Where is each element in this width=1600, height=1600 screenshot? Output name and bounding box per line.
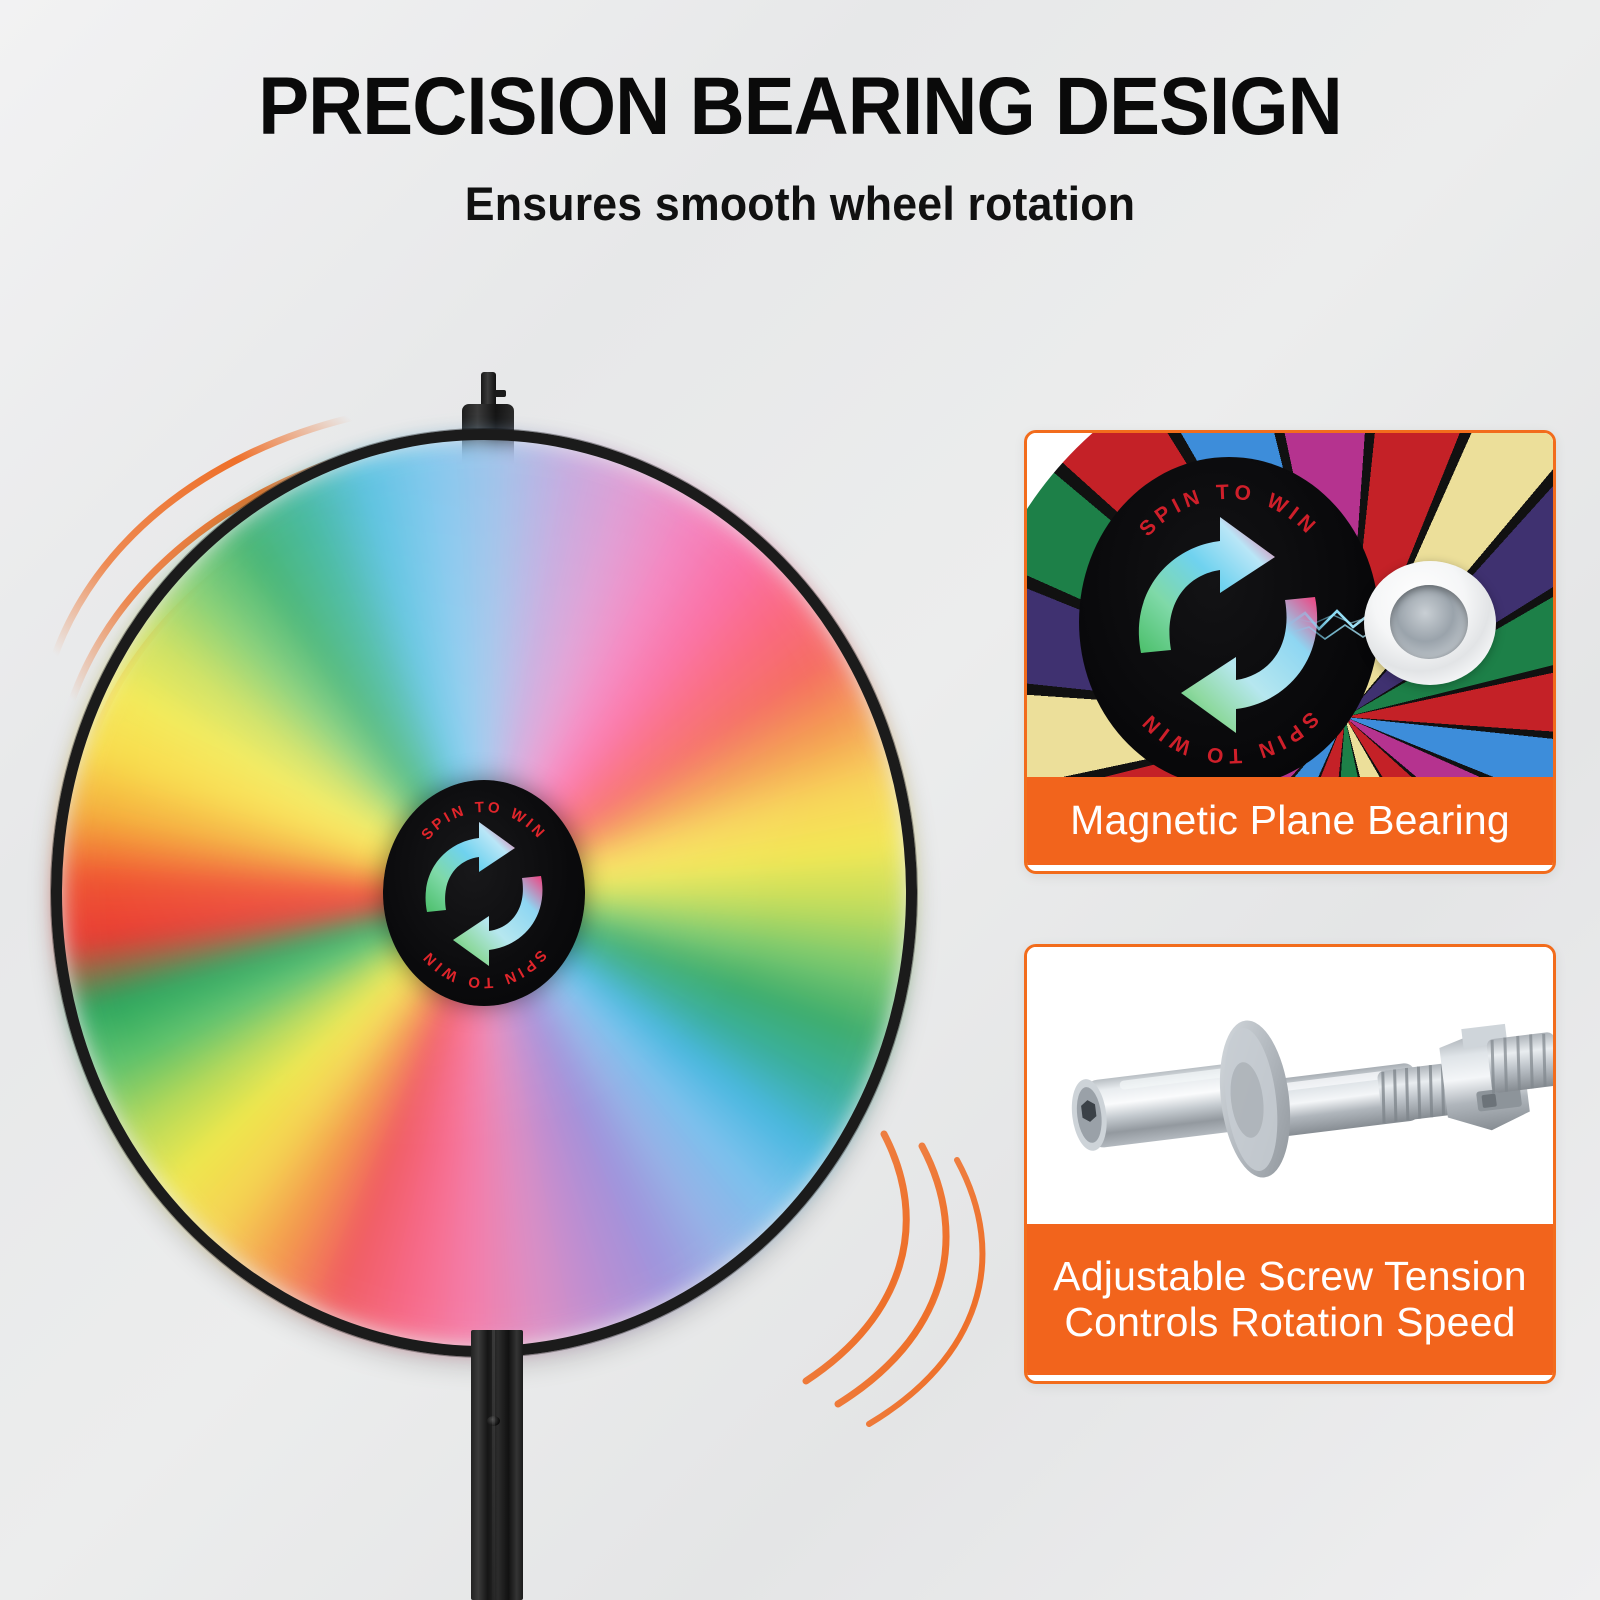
pole-screw-icon bbox=[487, 1416, 500, 1426]
magnetic-plane-bearing-part bbox=[1364, 561, 1496, 685]
marketing-image: PRECISION BEARING DESIGN Ensures smooth … bbox=[0, 0, 1600, 1600]
prize-wheel: SPIN TO WIN SPIN TO WIN bbox=[60, 438, 908, 1348]
caption-line: Controls Rotation Speed bbox=[1064, 1300, 1515, 1346]
rotating-arrows-icon bbox=[383, 780, 585, 1006]
page-title: PRECISION BEARING DESIGN bbox=[56, 66, 1544, 148]
caption-line: Magnetic Plane Bearing bbox=[1070, 798, 1510, 844]
screw-hardware-photo bbox=[1027, 947, 1553, 1224]
feature-panel-adjustable-screw: Adjustable Screw Tension Controls Rotati… bbox=[1024, 944, 1556, 1384]
magnetic-bearing-photo: SPIN TO WIN SPIN TO WIN bbox=[1027, 433, 1553, 777]
wheel-hub: SPIN TO WIN SPIN TO WIN bbox=[383, 780, 585, 1006]
wheel-stand-pole bbox=[471, 1330, 523, 1600]
caption-line: Adjustable Screw Tension bbox=[1053, 1254, 1527, 1300]
feature-panel-magnetic-bearing: SPIN TO WIN SPIN TO WIN bbox=[1024, 430, 1556, 874]
panel-caption-adjustable-screw: Adjustable Screw Tension Controls Rotati… bbox=[1027, 1224, 1553, 1375]
page-subtitle: Ensures smooth wheel rotation bbox=[40, 176, 1560, 231]
axle-knob bbox=[494, 390, 506, 397]
panel-caption-magnetic-bearing: Magnetic Plane Bearing bbox=[1027, 777, 1553, 865]
axle-bolt-icon bbox=[1027, 947, 1553, 1224]
